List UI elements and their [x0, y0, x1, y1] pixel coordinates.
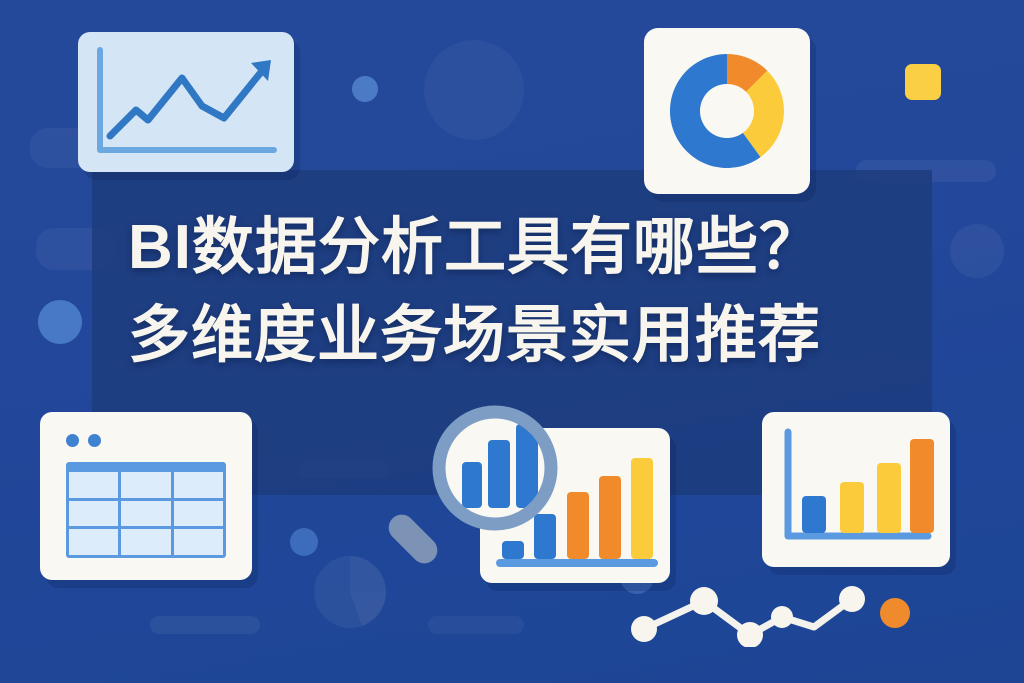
- background-circle-left: [38, 300, 82, 344]
- table-cell: [174, 472, 223, 498]
- magnifier-icon: [380, 400, 560, 585]
- table-cell: [121, 472, 170, 498]
- table-cell: [121, 501, 170, 527]
- spark-line-chart: [628, 585, 868, 647]
- donut-chart-icon: [644, 28, 810, 194]
- table-cell: [69, 529, 118, 555]
- bar-chart-icon: [762, 412, 950, 567]
- background-circle-small: [352, 76, 378, 102]
- line-chart-icon: [78, 32, 294, 172]
- table-cell: [121, 529, 170, 555]
- table-cell: [174, 501, 223, 527]
- page-title-line-2: 多维度业务场景实用推荐: [128, 292, 928, 380]
- page-title-line-1: BI数据分析工具有哪些？: [128, 204, 928, 292]
- bar-chart-card-right: [762, 412, 950, 567]
- background-pill-bottom-left: [150, 616, 260, 634]
- poster-canvas: BI数据分析工具有哪些？ 多维度业务场景实用推荐: [0, 0, 1024, 683]
- window-dot-icon: [66, 434, 79, 447]
- table-cell: [69, 472, 118, 498]
- table-grid: [66, 462, 226, 558]
- table-cell: [174, 529, 223, 555]
- yellow-accent-square: [905, 64, 941, 100]
- background-circle-right: [950, 224, 1004, 278]
- background-circle-large: [424, 40, 524, 140]
- table-cell: [69, 501, 118, 527]
- line-chart-card: [78, 32, 294, 172]
- data-table-card: [40, 412, 252, 580]
- page-title: BI数据分析工具有哪些？ 多维度业务场景实用推荐: [128, 204, 928, 380]
- background-pill-bottom-right: [428, 616, 524, 634]
- window-dot-icon: [88, 434, 101, 447]
- window-dots: [66, 434, 101, 447]
- orange-accent-dot: [880, 598, 910, 628]
- donut-chart-card: [644, 28, 810, 194]
